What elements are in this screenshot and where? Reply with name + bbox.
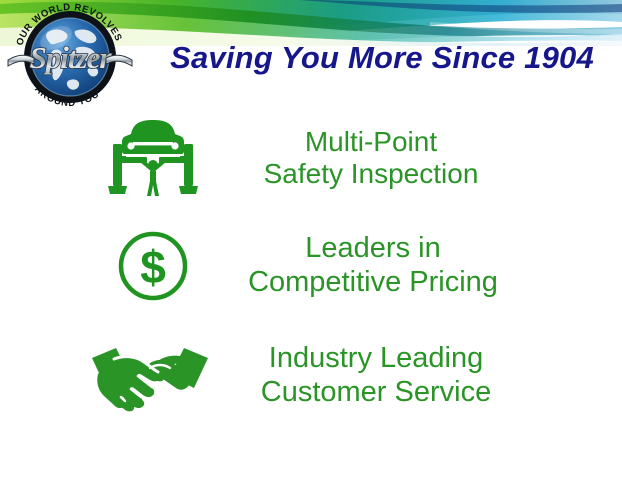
feature-line: Customer Service: [220, 376, 532, 410]
feature-text-pricing: Leaders in Competitive Pricing: [214, 232, 532, 299]
feature-text-service: Industry Leading Customer Service: [220, 342, 532, 409]
handshake-icon-graphic: [90, 338, 210, 414]
dollar-circle-icon: $: [92, 228, 214, 304]
car-lift-icon: [92, 116, 214, 200]
feature-row-service: Industry Leading Customer Service: [80, 326, 532, 426]
logo-wordmark: Spitzer: [30, 40, 113, 75]
feature-line: Multi-Point: [214, 126, 528, 158]
handshake-icon: [80, 338, 220, 414]
svg-text:Spitzer: Spitzer: [30, 40, 113, 75]
feature-line: Leaders in: [214, 232, 532, 266]
feature-line: Safety Inspection: [214, 158, 528, 190]
feature-line: Industry Leading: [220, 342, 532, 376]
dollar-circle-icon-graphic: $: [115, 228, 191, 304]
spitzer-logo[interactable]: OUR WORLD REVOLVES AROUND YOU Spitzer: [4, 2, 136, 112]
page-title: Saving You More Since 1904: [148, 40, 616, 76]
slide-canvas: OUR WORLD REVOLVES AROUND YOU Spitzer Sa…: [0, 0, 622, 483]
feature-row-pricing: $ Leaders in Competitive Pricing: [92, 218, 532, 314]
feature-row-inspection: Multi-Point Safety Inspection: [92, 110, 528, 206]
spitzer-logo-graphic: OUR WORLD REVOLVES AROUND YOU Spitzer: [4, 2, 136, 112]
dollar-glyph: $: [140, 241, 166, 293]
feature-text-inspection: Multi-Point Safety Inspection: [214, 126, 528, 191]
car-lift-icon-graphic: [107, 116, 199, 200]
feature-line: Competitive Pricing: [214, 266, 532, 300]
